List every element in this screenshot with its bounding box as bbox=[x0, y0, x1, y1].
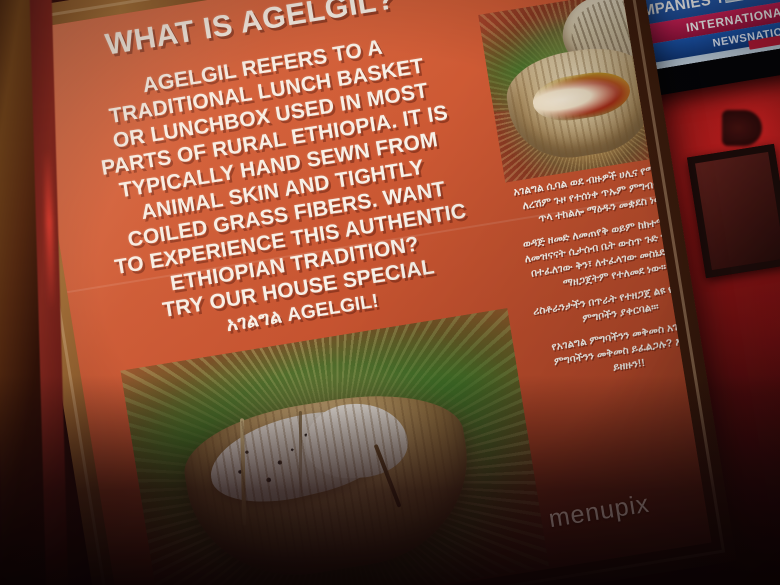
secondary-frame-artwork bbox=[695, 152, 780, 270]
lower-wall-shadow bbox=[0, 375, 780, 585]
poster-english-body: AGELGIL REFERS TO A TRADITIONAL LUNCH BA… bbox=[42, 19, 522, 361]
photo-scene: ERIM ENE ENJERA ...E IN SYRACUSE CALLS O… bbox=[0, 0, 780, 585]
wall-sconce bbox=[722, 110, 762, 146]
